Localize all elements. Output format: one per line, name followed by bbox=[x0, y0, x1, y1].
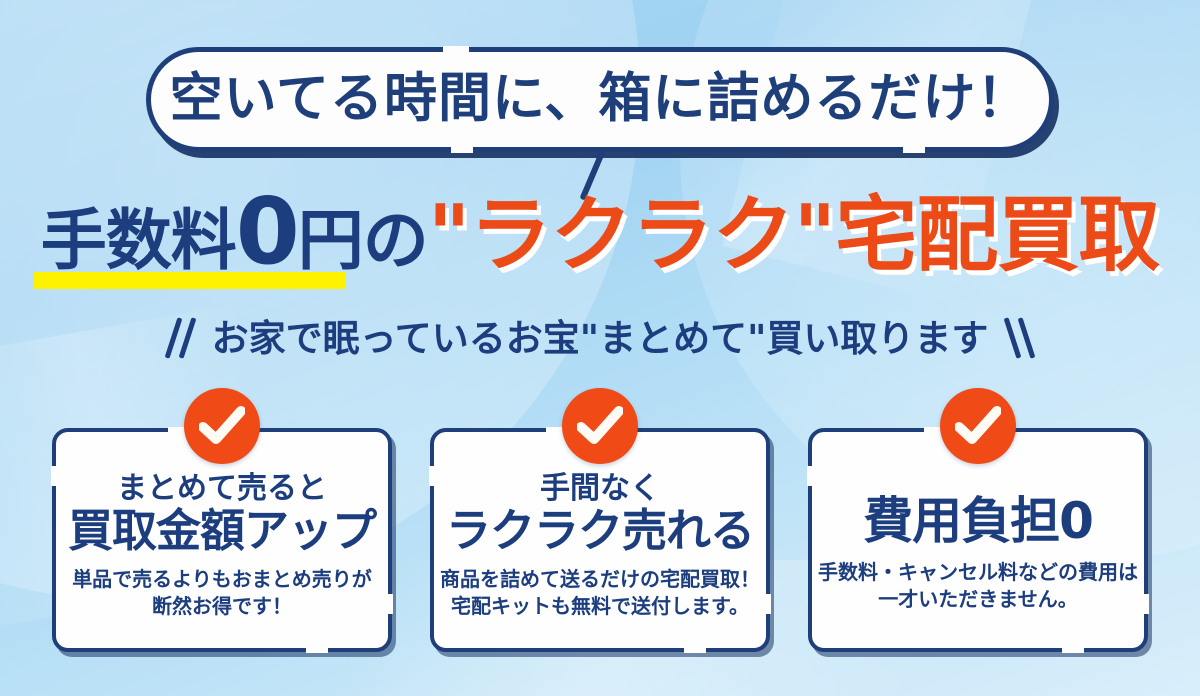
card-description-line1: 商品を詰めて送るだけの宅配買取！ bbox=[440, 567, 760, 591]
check-badge-icon bbox=[940, 388, 1016, 464]
bubble-border-gap-bottom-right bbox=[903, 144, 925, 153]
card-description: 商品を詰めて送るだけの宅配買取！ 宅配キットも無料で送付します。 bbox=[440, 566, 760, 620]
card-description-line2: 断然お得です！ bbox=[72, 593, 372, 620]
card-border-gap-bottom bbox=[1062, 644, 1084, 653]
card-description-line2: 宅配キットも無料で送付します。 bbox=[440, 593, 760, 620]
feature-card-list: まとめて売ると 買取金額アップ 単品で売るよりもおまとめ売りが 断然お得です！ … bbox=[52, 428, 1148, 652]
feature-card-1: まとめて売ると 買取金額アップ 単品で売るよりもおまとめ売りが 断然お得です！ bbox=[52, 428, 392, 652]
feature-card-3: 費用負担0 手数料・キャンセル料などの費用は 一才いただきません。 bbox=[808, 428, 1148, 652]
headline-part-rakuraku: "ラクラク"宅配買取 bbox=[428, 188, 1159, 283]
headline-yellow-underline bbox=[34, 272, 346, 289]
subheadline-text: お家で眠っているお宝"まとめて"買い取ります bbox=[212, 320, 989, 357]
headline-part-fee: 手数料 bbox=[41, 202, 236, 279]
bubble-border-gap-bottom-left bbox=[451, 144, 473, 153]
card-description-line1: 手数料・キャンセル料などの費用は bbox=[818, 560, 1138, 584]
slash-decoration-right bbox=[1010, 316, 1029, 360]
check-badge-icon bbox=[562, 388, 638, 464]
headline-part-yen: 円の bbox=[298, 202, 428, 279]
speech-bubble: 空いてる時間に、箱に詰めるだけ！ bbox=[146, 47, 1054, 152]
card-title: ラクラク売れる bbox=[446, 506, 754, 556]
card-border-gap-bottom bbox=[306, 644, 328, 653]
card-description-line1: 単品で売るよりもおまとめ売りが bbox=[72, 567, 372, 591]
speech-bubble-body: 空いてる時間に、箱に詰めるだけ！ bbox=[146, 47, 1054, 152]
card-border-gap-bottom bbox=[684, 644, 706, 653]
card-border-gap-left bbox=[429, 466, 438, 486]
card-eyebrow: まとめて売ると bbox=[117, 473, 327, 505]
card-description: 単品で売るよりもおまとめ売りが 断然お得です！ bbox=[72, 566, 372, 620]
card-border-gap-left bbox=[51, 466, 60, 486]
check-badge-icon bbox=[184, 388, 260, 464]
card-eyebrow: 手間なく bbox=[540, 473, 660, 505]
card-border-gap-right bbox=[384, 594, 393, 614]
bubble-border-gap-top bbox=[443, 46, 469, 55]
card-border-gap-right bbox=[1140, 594, 1149, 614]
card-title: 費用負担0 bbox=[863, 494, 1093, 549]
card-description: 手数料・キャンセル料などの費用は 一才いただきません。 bbox=[818, 559, 1138, 613]
speech-bubble-text: 空いてる時間に、箱に詰めるだけ！ bbox=[170, 72, 1031, 125]
feature-card-2: 手間なく ラクラク売れる 商品を詰めて送るだけの宅配買取！ 宅配キットも無料で送… bbox=[430, 428, 770, 652]
card-border-gap-left bbox=[807, 466, 816, 486]
card-description-line2: 一才いただきません。 bbox=[818, 586, 1138, 613]
card-border-gap-right bbox=[762, 594, 771, 614]
headline-zero: 0 bbox=[236, 178, 298, 285]
slash-decoration-left bbox=[171, 316, 190, 360]
card-title: 買取金額アップ bbox=[68, 506, 376, 556]
headline: 手数料0円の"ラクラク"宅配買取 bbox=[0, 186, 1200, 278]
promo-banner: 空いてる時間に、箱に詰めるだけ！ 手数料0円の"ラクラク"宅配買取 お家で眠って… bbox=[0, 0, 1200, 696]
subheadline: お家で眠っているお宝"まとめて"買い取ります bbox=[0, 316, 1200, 360]
